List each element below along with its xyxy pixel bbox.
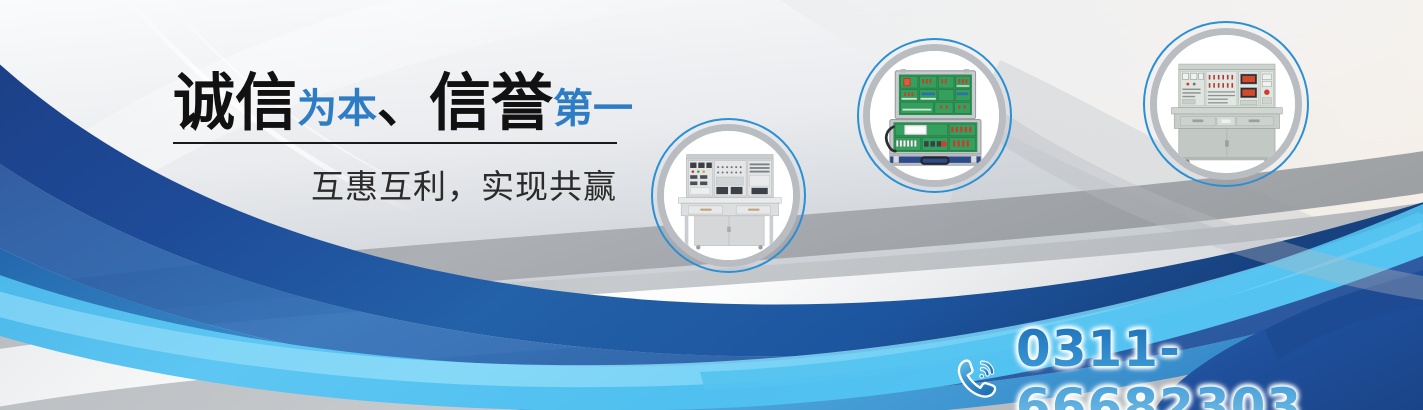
subtitle: 互惠互利，实现共赢: [311, 160, 617, 208]
headline-part-3: 信誉: [429, 66, 553, 139]
electrical-training-workbench-image: [664, 131, 793, 260]
headline-part-1: 诚信: [173, 66, 297, 139]
product-circle-2[interactable]: [863, 44, 1006, 187]
headline-part-2: 为本: [297, 86, 377, 132]
product-circle-3[interactable]: [1150, 28, 1302, 180]
product-circle-1[interactable]: [657, 124, 800, 267]
phone-call-icon[interactable]: [955, 353, 1002, 403]
phone-number[interactable]: 0311-66682303: [1016, 320, 1423, 410]
headline-punctuation: 、: [377, 75, 429, 135]
contact-block[interactable]: 0311-66682303: [955, 320, 1423, 410]
electrical-test-bench-image: [1157, 35, 1295, 173]
promo-banner: 诚信为本、信誉第一 互惠互利，实现共赢: [0, 0, 1423, 410]
headline-block: 诚信为本、信誉第一: [173, 72, 623, 134]
headline-divider: [173, 142, 617, 144]
headline-part-4: 第一: [553, 86, 633, 132]
headline: 诚信为本、信誉第一: [173, 72, 623, 134]
portable-electronics-training-case-image: [870, 51, 999, 180]
